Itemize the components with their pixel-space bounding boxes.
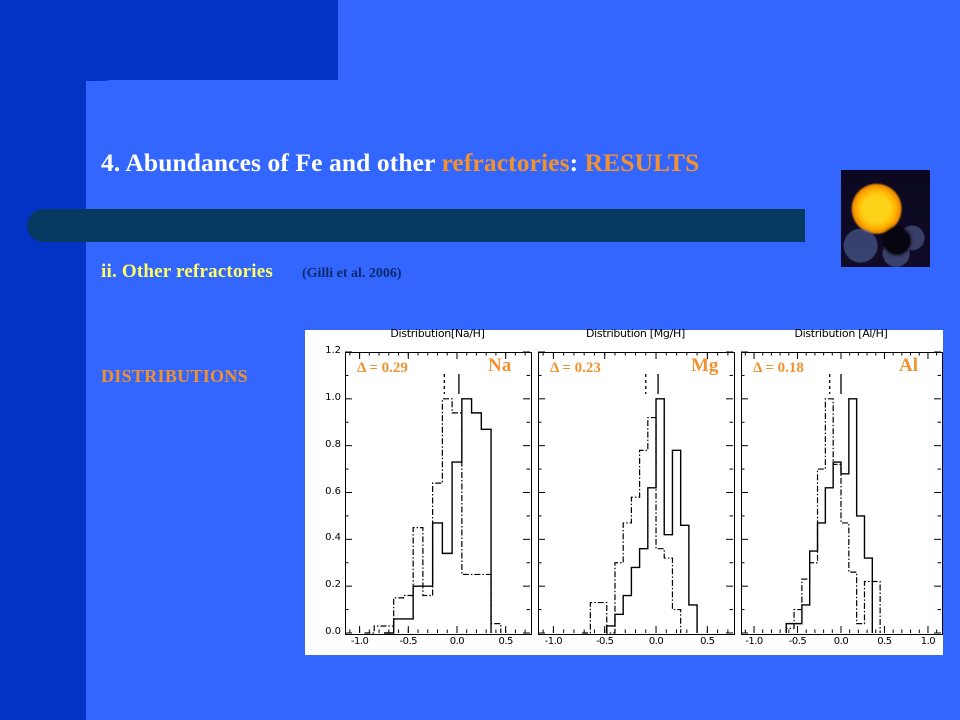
subtitle-row: ii. Other refractories(Gilli et al. 2006… (101, 261, 402, 283)
section-subtitle: ii. Other refractories (101, 261, 273, 283)
y-tick-label-na-0: 0.0 (311, 626, 341, 637)
sun-and-planet-image (841, 170, 930, 267)
distribution-charts-card: Distribution[Na/H]Δ = 0.29Na0.00.20.40.6… (305, 330, 943, 655)
histogram-plot-mg (538, 352, 733, 633)
x-tick-label-na-0: -1.0 (343, 636, 377, 647)
chart-panel-mg: Distribution [Mg/H]Δ = 0.23Mg-1.0-0.50.0… (538, 330, 733, 655)
x-tick-label-mg-2: 0.0 (639, 636, 673, 647)
x-tick-label-al-4: 1.0 (911, 636, 945, 647)
chart-panel-na: Distribution[Na/H]Δ = 0.29Na0.00.20.40.6… (345, 330, 530, 655)
y-tick-label-na-5: 1.0 (311, 392, 341, 403)
histogram-series-comparison-sample-na (364, 399, 500, 633)
planet-silhouette (884, 228, 911, 254)
histogram-series-comparison-sample-al (786, 399, 880, 633)
x-tick-label-al-2: 0.0 (824, 636, 858, 647)
chart-panel-al: Distribution [Al/H]Δ = 0.18Al-1.0-0.50.0… (741, 330, 941, 655)
page-title-segment-1: refractories (441, 148, 569, 177)
y-tick-label-na-2: 0.4 (311, 532, 341, 543)
background-dark-top-block (0, 0, 338, 81)
x-tick-label-na-1: -0.5 (391, 636, 425, 647)
citation-reference: (Gilli et al. 2006) (302, 266, 402, 282)
x-tick-label-na-3: 0.5 (489, 636, 523, 647)
chart-title-mg: Distribution [Mg/H] (538, 327, 733, 340)
histogram-plot-na (345, 352, 530, 633)
page-title: 4. Abundances of Fe and other refractori… (101, 148, 699, 178)
histogram-plot-al (741, 352, 941, 633)
page-title-segment-0: 4. Abundances of Fe and other (101, 148, 441, 177)
x-tick-label-mg-0: -1.0 (536, 636, 570, 647)
chart-title-na: Distribution[Na/H] (345, 327, 530, 340)
x-tick-label-al-1: -0.5 (781, 636, 815, 647)
x-tick-label-mg-3: 0.5 (690, 636, 724, 647)
y-tick-label-na-6: 1.2 (311, 345, 341, 356)
y-tick-label-na-1: 0.2 (311, 579, 341, 590)
distributions-caption: DISTRIBUTIONS (101, 366, 248, 387)
page-title-segment-2: : (570, 148, 585, 177)
x-tick-label-al-0: -1.0 (737, 636, 771, 647)
background-dark-left-strip (0, 0, 86, 720)
title-underline-bar (27, 209, 805, 242)
x-tick-label-na-2: 0.0 (440, 636, 474, 647)
chart-title-al: Distribution [Al/H] (741, 327, 941, 340)
histogram-series-comparison-sample-mg (582, 418, 681, 633)
y-tick-label-na-3: 0.6 (311, 486, 341, 497)
x-tick-label-al-3: 0.5 (867, 636, 901, 647)
x-tick-label-mg-1: -0.5 (588, 636, 622, 647)
histogram-series-planet-host-stars-mg (607, 399, 697, 633)
slide-canvas: 4. Abundances of Fe and other refractori… (0, 0, 960, 720)
y-tick-label-na-4: 0.8 (311, 439, 341, 450)
chart-panel-group: Distribution[Na/H]Δ = 0.29Na0.00.20.40.6… (305, 330, 943, 655)
histogram-series-planet-host-stars-al (786, 399, 872, 633)
page-title-segment-3: RESULTS (585, 148, 700, 177)
